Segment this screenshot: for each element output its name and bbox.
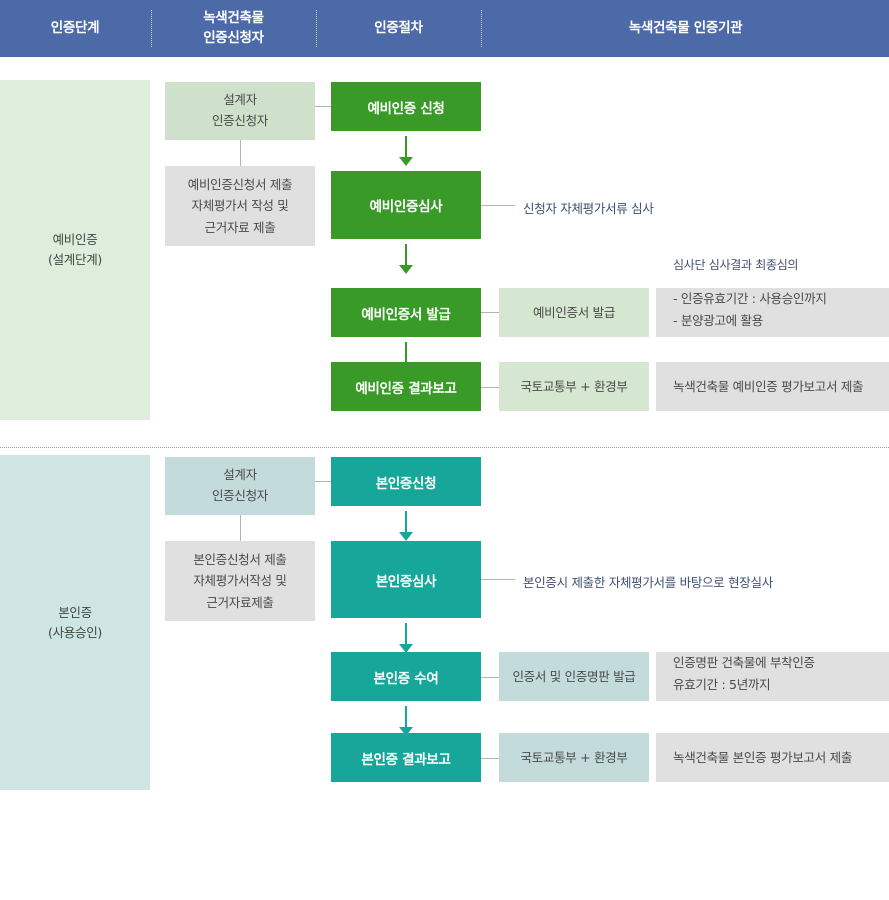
applicant-head-preliminary: 설계자 인증신청자 [165, 82, 315, 140]
stage-label-main: 본인증 (사용승인) [48, 603, 102, 643]
side-label-preliminary-review: 신청자 자체평가서류 심사 [523, 198, 654, 217]
note-line: - 분양광고에 활용 [673, 310, 763, 332]
tint-box-main-award: 인증서 및 인증명판 발급 [499, 652, 649, 701]
applicant-connector-main [240, 515, 241, 541]
note-box-preliminary-issuance: - 인증유효기간 : 사용승인까지 - 분양광고에 활용 [656, 288, 889, 337]
process-label-main-award: 본인증 수여 [374, 667, 439, 687]
note-line: 인증명판 건축물에 부착인증 [673, 652, 815, 674]
stage-band-main: 본인증 (사용승인) [0, 455, 150, 790]
header-column-procedure: 인증절차 [317, 0, 480, 57]
link-review-to-sidelabel-main [481, 579, 515, 580]
process-box-main-award[interactable]: 본인증 수여 [331, 652, 481, 701]
applicant-body-main: 본인증신청서 제출 자체평가서작성 및 근거자료제출 [165, 541, 315, 621]
note-caption-preliminary-issuance: 심사단 심사결과 최종심의 [673, 256, 798, 273]
process-label-preliminary-issuance: 예비인증서 발급 [361, 303, 450, 323]
arrow-main-review-to-award [399, 623, 413, 653]
process-label-preliminary-review: 예비인증심사 [370, 195, 443, 215]
tint-label-main-result-report: 국토교통부 + 환경부 [520, 748, 627, 768]
stage-label-preliminary: 예비인증 (설계단계) [48, 230, 102, 270]
process-box-preliminary-result-report[interactable]: 예비인증 결과보고 [331, 362, 481, 411]
tint-label-preliminary-issuance: 예비인증서 발급 [533, 303, 615, 323]
tint-box-preliminary-issuance: 예비인증서 발급 [499, 288, 649, 337]
tint-label-preliminary-result-report: 국토교통부 + 환경부 [520, 377, 627, 397]
applicant-body-label-main: 본인증신청서 제출 자체평가서작성 및 근거자료제출 [193, 549, 286, 613]
process-label-main-result-report: 본인증 결과보고 [361, 748, 450, 768]
link-report-to-tint-preliminary [481, 387, 499, 388]
process-label-main-application: 본인증신청 [376, 472, 437, 492]
process-label-preliminary-result-report: 예비인증 결과보고 [355, 377, 456, 397]
note-box-main-award: 인증명판 건축물에 부착인증 유효기간 : 5년까지 [656, 652, 889, 701]
note-box-main-result-report: 녹색건축물 본인증 평가보고서 제출 [656, 733, 889, 782]
tint-box-preliminary-result-report: 국토교통부 + 환경부 [499, 362, 649, 411]
header-label-applicant: 녹색건축물 인증신청자 [203, 9, 264, 48]
arrow-preliminary-review-to-issuance [399, 244, 413, 274]
note-line: - 인증유효기간 : 사용승인까지 [673, 288, 827, 310]
applicant-head-label-main: 설계자 인증신청자 [212, 465, 268, 506]
applicant-head-main: 설계자 인증신청자 [165, 457, 315, 515]
link-award-to-tint-main [481, 677, 499, 678]
note-line: 녹색건축물 본인증 평가보고서 제출 [673, 747, 852, 769]
link-applicant-to-application-main [315, 481, 331, 482]
side-label-main-review: 본인증시 제출한 자체평가서를 바탕으로 현장실사 [523, 572, 773, 591]
note-box-preliminary-result-report: 녹색건축물 예비인증 평가보고서 제출 [656, 362, 889, 411]
header-column-stage: 인증단계 [0, 0, 150, 57]
header-label-stage: 인증단계 [51, 19, 99, 39]
link-issuance-to-tint-preliminary [481, 312, 499, 313]
note-line: 유효기간 : 5년까지 [673, 674, 770, 696]
process-box-preliminary-issuance[interactable]: 예비인증서 발급 [331, 288, 481, 337]
applicant-head-label-preliminary: 설계자 인증신청자 [212, 90, 268, 131]
link-review-to-sidelabel-preliminary [481, 205, 515, 206]
arrow-preliminary-application-to-review [399, 136, 413, 166]
header-column-applicant: 녹색건축물 인증신청자 [152, 0, 315, 57]
process-box-main-result-report[interactable]: 본인증 결과보고 [331, 733, 481, 782]
stage-band-preliminary: 예비인증 (설계단계) [0, 80, 150, 420]
process-box-preliminary-application[interactable]: 예비인증 신청 [331, 82, 481, 131]
process-label-preliminary-application: 예비인증 신청 [367, 97, 444, 117]
tint-box-main-result-report: 국토교통부 + 환경부 [499, 733, 649, 782]
tint-label-main-award: 인증서 및 인증명판 발급 [512, 667, 635, 687]
arrow-main-award-to-report [399, 706, 413, 736]
process-label-main-review: 본인증심사 [376, 570, 437, 590]
applicant-connector-preliminary [240, 140, 241, 166]
header-column-institution: 녹색건축물 인증기관 [482, 0, 889, 57]
process-box-main-review[interactable]: 본인증심사 [331, 541, 481, 618]
process-box-main-application[interactable]: 본인증신청 [331, 457, 481, 506]
applicant-body-label-preliminary: 예비인증신청서 제출 자체평가서 작성 및 근거자료 제출 [188, 174, 292, 238]
arrow-main-application-to-review [399, 511, 413, 541]
certification-flowchart: 인증단계 녹색건축물 인증신청자 인증절차 녹색건축물 인증기관 예비인증 (설… [0, 0, 889, 900]
applicant-body-preliminary: 예비인증신청서 제출 자체평가서 작성 및 근거자료 제출 [165, 166, 315, 246]
header-label-institution: 녹색건축물 인증기관 [629, 19, 742, 39]
note-line: 녹색건축물 예비인증 평가보고서 제출 [673, 376, 863, 398]
section-divider [0, 447, 889, 448]
link-applicant-to-application-preliminary [315, 106, 331, 107]
process-box-preliminary-review[interactable]: 예비인증심사 [331, 171, 481, 239]
header-bar: 인증단계 녹색건축물 인증신청자 인증절차 녹색건축물 인증기관 [0, 0, 889, 57]
link-report-to-tint-main [481, 758, 499, 759]
header-label-procedure: 인증절차 [374, 19, 422, 39]
